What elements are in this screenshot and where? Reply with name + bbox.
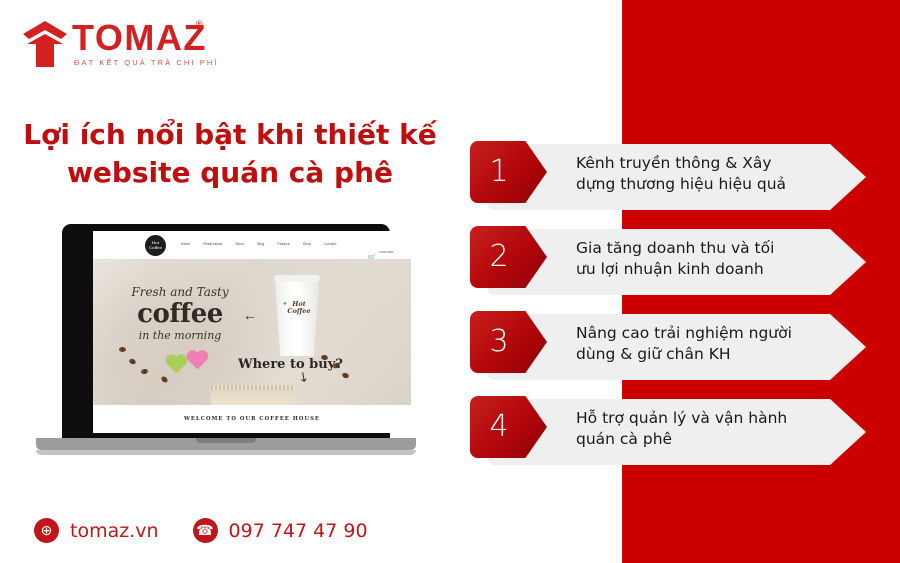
brand-tagline: ĐẠT KẾT QUẢ TRẢ CHI PHÍ bbox=[74, 58, 219, 67]
laptop-lid: Hot Coffee Home Reservation Menu Blog Fe… bbox=[62, 224, 390, 442]
benefit-text: Nâng cao trải nghiệm người dùng & giữ ch… bbox=[576, 323, 832, 365]
mockup-nav-item: Feature bbox=[278, 242, 290, 246]
contact-website[interactable]: ⊕ tomaz.vn bbox=[34, 518, 159, 543]
page-title-line-1: Lợi ích nổi bật khi thiết kế bbox=[23, 118, 436, 151]
mockup-site-navbar: Hot Coffee Home Reservation Menu Blog Fe… bbox=[93, 231, 411, 259]
benefit-text-line-1: Gia tăng doanh thu và tối bbox=[576, 239, 774, 257]
mockup-hero-script-bottom: in the morning bbox=[115, 329, 245, 343]
coffee-bean bbox=[119, 347, 126, 352]
page-title: Lợi ích nổi bật khi thiết kế website quá… bbox=[20, 116, 440, 192]
mockup-nav-item: Home bbox=[181, 242, 190, 246]
benefit-text-line-2: dùng & giữ chân KH bbox=[576, 345, 731, 363]
benefit-item-3[interactable]: 3 Nâng cao trải nghiệm người dùng & giữ … bbox=[470, 311, 870, 383]
benefit-text-line-2: dựng thương hiệu hiệu quả bbox=[576, 175, 786, 193]
benefit-item-2[interactable]: 2 Gia tăng doanh thu và tối ưu lợi nhuận… bbox=[470, 226, 870, 298]
green-heart-icon bbox=[165, 355, 187, 375]
mockup-cart-line-1: YOUR CART bbox=[378, 251, 393, 254]
cup-body bbox=[275, 282, 319, 356]
mockup-nav-item: Contact bbox=[324, 242, 336, 246]
tomaz-arrow-logo-icon bbox=[22, 20, 68, 70]
phone-icon: ☎ bbox=[193, 518, 218, 543]
mockup-hero-headline: coffee bbox=[115, 299, 245, 329]
brand-name: TOMAZ bbox=[72, 20, 207, 56]
coffee-bean bbox=[160, 375, 169, 383]
laptop-base-lip bbox=[36, 450, 416, 455]
benefit-number: 2 bbox=[470, 226, 528, 288]
mockup-nav-item: Shop bbox=[303, 242, 311, 246]
benefit-text-line-2: quán cà phê bbox=[576, 430, 672, 448]
mockup-hero-slogan: Fresh and Tasty coffee in the morning bbox=[115, 285, 245, 343]
mockup-nav-item: Reservation bbox=[203, 242, 222, 246]
mockup-nav-items: Home Reservation Menu Blog Feature Shop … bbox=[181, 242, 337, 246]
laptop-base-notch bbox=[196, 438, 256, 443]
infographic-canvas: TOMAZ ® ĐẠT KẾT QUẢ TRẢ CHI PHÍ Lợi ích … bbox=[0, 0, 900, 563]
mockup-footer-text: WELCOME TO OUR COFFEE HOUSE bbox=[184, 416, 320, 422]
contact-bar: ⊕ tomaz.vn ☎ 097 747 47 90 bbox=[34, 518, 368, 543]
cup-lid bbox=[273, 274, 321, 283]
page-title-line-2: website quán cà phê bbox=[20, 154, 440, 192]
benefit-text: Hỗ trợ quản lý và vận hành quán cà phê bbox=[576, 408, 832, 450]
laptop-screen: Hot Coffee Home Reservation Menu Blog Fe… bbox=[93, 231, 411, 433]
mockup-site-footer: WELCOME TO OUR COFFEE HOUSE bbox=[93, 405, 411, 433]
benefit-number: 4 bbox=[470, 396, 528, 458]
mockup-site-logo: Hot Coffee bbox=[145, 235, 166, 256]
cup-logo: Hot Coffee bbox=[284, 301, 314, 315]
coffee-bean bbox=[341, 372, 349, 379]
benefit-text-line-2: ưu lợi nhuận kinh doanh bbox=[576, 260, 764, 278]
benefit-number: 1 bbox=[470, 141, 528, 203]
benefit-text-line-1: Nâng cao trải nghiệm người bbox=[576, 324, 792, 342]
contact-phone[interactable]: ☎ 097 747 47 90 bbox=[193, 518, 368, 543]
coffee-bean bbox=[128, 358, 136, 365]
brand-logo[interactable]: TOMAZ ® ĐẠT KẾT QUẢ TRẢ CHI PHÍ bbox=[22, 16, 242, 74]
coffee-bag-top bbox=[211, 385, 295, 390]
benefit-text: Kênh truyền thông & Xây dựng thương hiệu… bbox=[576, 153, 832, 195]
mockup-hero-script-top: Fresh and Tasty bbox=[115, 285, 245, 299]
laptop-mockup: Hot Coffee Home Reservation Menu Blog Fe… bbox=[36, 224, 416, 469]
contact-website-label[interactable]: tomaz.vn bbox=[70, 520, 159, 542]
benefit-text-line-1: Hỗ trợ quản lý và vận hành bbox=[576, 409, 787, 427]
benefit-item-1[interactable]: 1 Kênh truyền thông & Xây dựng thương hi… bbox=[470, 141, 870, 213]
mockup-nav-item: Blog bbox=[257, 242, 264, 246]
benefit-item-4[interactable]: 4 Hỗ trợ quản lý và vận hành quán cà phê bbox=[470, 396, 870, 468]
cup-logo-bottom: Coffee bbox=[287, 307, 310, 315]
mockup-hero: Fresh and Tasty coffee in the morning ← … bbox=[93, 259, 411, 405]
coffee-bean bbox=[140, 368, 148, 375]
mockup-nav-item: Menu bbox=[236, 242, 245, 246]
benefit-text-line-1: Kênh truyền thông & Xây bbox=[576, 154, 772, 172]
benefits-list: 1 Kênh truyền thông & Xây dựng thương hi… bbox=[470, 141, 870, 481]
coffee-cup-image: ✦ Hot Coffee bbox=[275, 274, 319, 356]
benefit-number: 3 bbox=[470, 311, 528, 373]
globe-icon: ⊕ bbox=[34, 518, 59, 543]
contact-phone-label[interactable]: 097 747 47 90 bbox=[229, 520, 368, 542]
benefit-text: Gia tăng doanh thu và tối ưu lợi nhuận k… bbox=[576, 238, 832, 280]
left-arrow-icon: ← bbox=[243, 307, 257, 323]
mockup-hero-question: Where to buy? bbox=[238, 357, 343, 372]
registered-mark: ® bbox=[196, 19, 203, 29]
pink-heart-icon bbox=[186, 351, 208, 371]
